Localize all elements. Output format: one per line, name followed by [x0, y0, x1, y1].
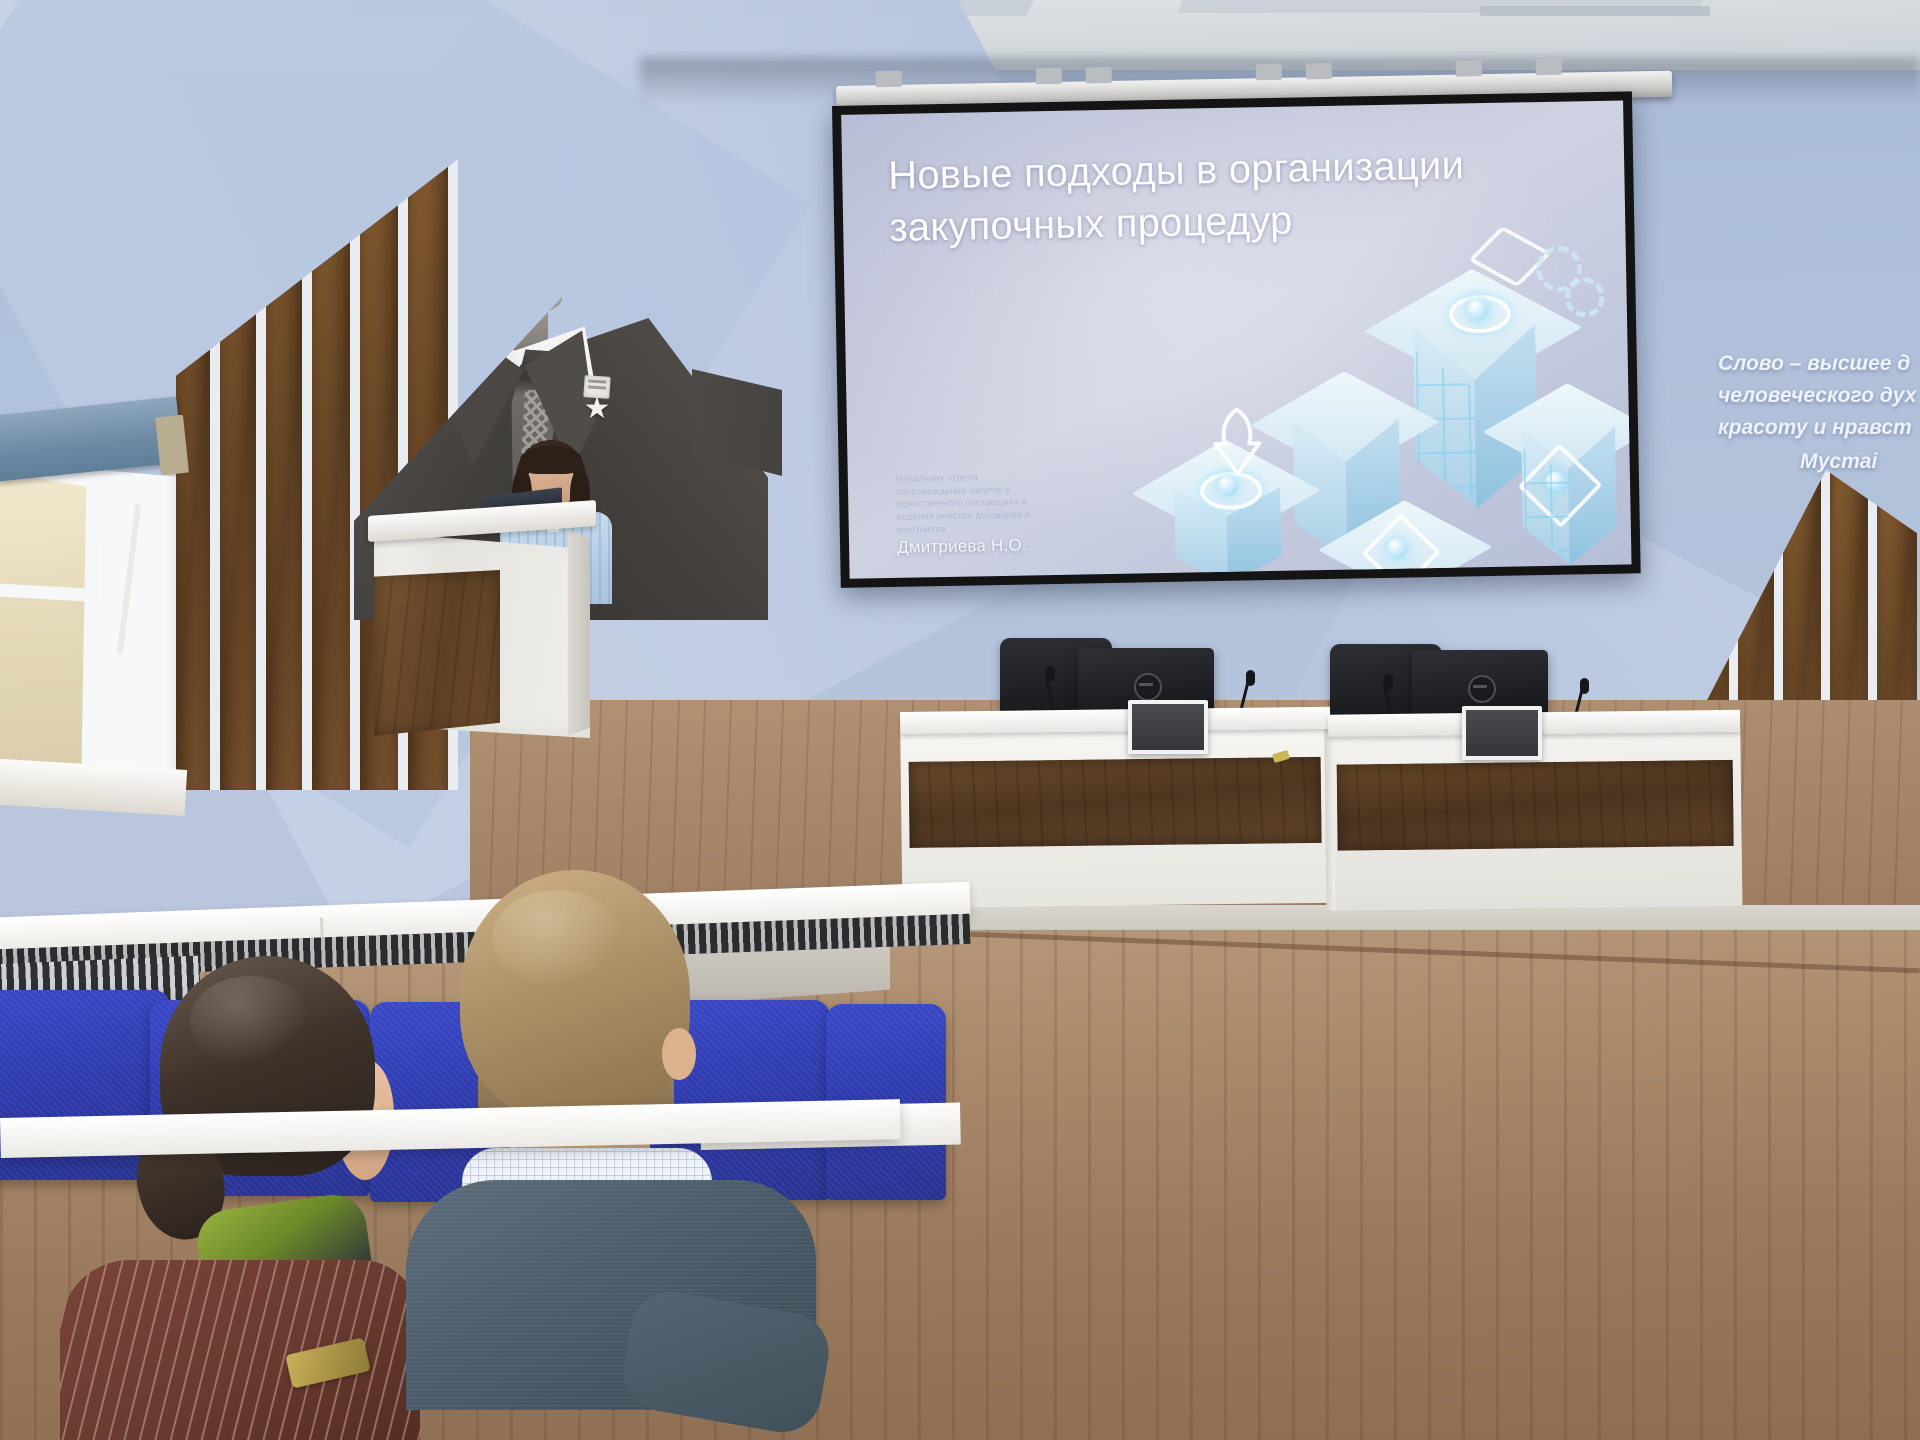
dell-logo-icon — [1468, 675, 1496, 703]
ceiling-mount-bracket — [1036, 68, 1062, 84]
ceiling-mount-bracket — [1306, 63, 1332, 79]
dell-logo-icon — [1134, 673, 1162, 701]
desk-wood-grain — [1337, 760, 1734, 851]
presenter-hair-front — [520, 446, 582, 474]
audience-person-man — [400, 870, 820, 1440]
ceiling-mount-bracket — [1456, 60, 1482, 76]
slide-surface: Новые подходы в организации закупочных п… — [841, 101, 1631, 579]
speaker-podium — [368, 508, 596, 748]
man-ear — [662, 1028, 696, 1080]
podium-side-edge — [568, 530, 590, 736]
slide-presenter-role: Начальник отдела сопровождения закупок у… — [896, 470, 1093, 537]
ceiling-vent — [1480, 6, 1710, 16]
wall-quote-text: Слово – высшее д человеческого дух красо… — [1718, 348, 1920, 444]
slide-presenter-name: Дмитриева Н.О. — [897, 536, 1027, 558]
desk-nameplate — [1128, 700, 1208, 754]
man-hair-highlight — [492, 890, 622, 986]
slide-isometric-graphic — [1111, 197, 1618, 579]
window-blind-end-cap — [155, 415, 189, 476]
microphone-head — [1246, 670, 1255, 686]
wall-quote-line-1: Слово – высшее д — [1718, 348, 1920, 380]
lecture-hall-photo: ★ — [0, 0, 1920, 1440]
ceiling-mount-bracket — [1536, 59, 1562, 75]
podium-wood-grain — [374, 570, 500, 736]
wall-quote-line-2: человеческого дух — [1718, 380, 1920, 412]
window-glass — [0, 470, 94, 770]
gold-star-medal-icon: ★ — [582, 394, 612, 424]
desk-nameplate — [1462, 706, 1542, 760]
ceiling-mount-bracket — [1086, 67, 1112, 83]
cursor-arrow-icon — [1207, 403, 1273, 494]
projection-screen: Новые подходы в организации закупочных п… — [832, 91, 1641, 588]
woman-hair-highlight — [190, 976, 310, 1066]
presidium-desk — [900, 702, 1743, 924]
wall-quote-author: Мустаi — [1800, 450, 1877, 474]
slide-title: Новые подходы в организации закупочных п… — [888, 138, 1570, 254]
microphone-head — [1580, 678, 1589, 694]
desk-wood-grain — [909, 757, 1322, 848]
ceiling-mount-bracket — [1256, 64, 1282, 80]
microphone-head — [1046, 666, 1055, 682]
wall-quote-line-3: красоту и нравст — [1718, 412, 1920, 444]
microphone-head — [1384, 674, 1393, 690]
hall-window — [0, 434, 176, 798]
ceiling-mount-bracket — [876, 71, 902, 87]
gear-icon — [1564, 277, 1605, 318]
audience-person-woman — [50, 940, 430, 1440]
